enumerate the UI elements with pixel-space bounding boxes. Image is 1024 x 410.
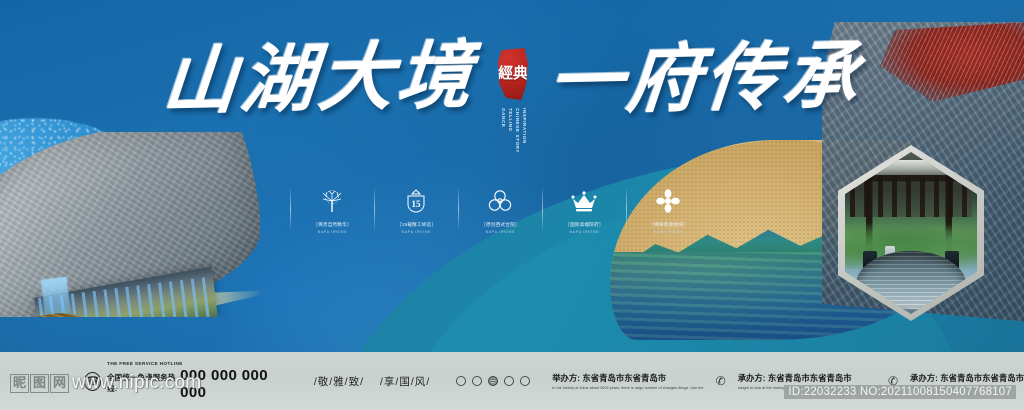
- feature-label-en: NAPA IRVINE: [318, 230, 348, 234]
- phone-separator-icon: ✆: [716, 374, 726, 388]
- image-id-tag: ID:22032233 NO:20211008150407768107: [784, 385, 1016, 399]
- tree-icon: [319, 186, 345, 216]
- organizer-name-cn: 承办方: 东省青岛市东省青岛市: [910, 372, 1024, 384]
- footer-bar: ☎ THE FREE SERVICE HOTLINE 全国统一免费服务热线: 0…: [0, 352, 1024, 410]
- feature-icon-row: ［稀贵自然精华］ NAPA IRVINE 15 ［15载精工缔造］ NAPA I…: [290, 186, 710, 234]
- feature-label-cn: ［国际高端院府］: [565, 222, 603, 228]
- circle-dot-2: [472, 376, 482, 386]
- screenshot-canvas: 山湖大境 經典 INSPIRATION CHINESE STORY TELLIN…: [0, 0, 1024, 410]
- crown-icon: [570, 186, 598, 216]
- feature-label-cn: ［15载精工缔造］: [397, 222, 436, 228]
- circle-dot-1: [456, 376, 466, 386]
- feature-item-2: 15 ［15载精工缔造］ NAPA IRVINE: [375, 186, 458, 234]
- feature-label-en: NAPA IRVINE: [654, 230, 684, 234]
- organizer-1: 举办方: 东省青岛市东省青岛市 In the history of china …: [552, 372, 703, 390]
- circle-dot-4: [504, 376, 514, 386]
- blossom-icon: [655, 186, 681, 216]
- hotline-block: THE FREE SERVICE HOTLINE 全国统一免费服务热线: 000…: [107, 362, 286, 401]
- feature-label-en: NAPA IRVINE: [570, 230, 600, 234]
- circle-dot-5: [520, 376, 530, 386]
- feature-item-4: ［国际高端院府］ NAPA IRVINE: [543, 186, 626, 234]
- hexagon-photo-frame: [838, 145, 984, 321]
- shield-15-icon: 15: [404, 186, 428, 216]
- slogan-2: /享/国/风/: [380, 374, 430, 389]
- slogan-group: /敬/雅/致/ /享/国/风/: [314, 374, 430, 389]
- feature-item-3: ［原创西式合院］ NAPA IRVINE: [459, 186, 542, 234]
- slogan-1: /敬/雅/致/: [314, 374, 364, 389]
- coin-dot-row: [456, 376, 530, 386]
- feature-label-cn: ［原创西式合院］: [481, 222, 519, 228]
- organizer-desc-en: In the history of china about 5000 years…: [552, 386, 703, 390]
- feature-item-5: ［稀缺资源地块］ NAPA IRVINE: [627, 186, 710, 234]
- organizer-name-cn: 举办方: 东省青岛市东省青岛市: [552, 372, 703, 384]
- feature-label-en: NAPA IRVINE: [486, 230, 516, 234]
- hotline-label-cn: 全国统一免费服务热线:: [107, 372, 177, 394]
- phone-icon: ☎: [84, 372, 101, 391]
- feature-label-cn: ［稀贵自然精华］: [313, 222, 351, 228]
- feature-label-en: NAPA IRVINE: [402, 230, 432, 234]
- hotline-number: 000 000 000 000: [180, 367, 286, 401]
- organizer-name-cn: 承办方: 东省青岛市东省青岛市: [738, 372, 876, 384]
- left-landscape-collage: [0, 132, 260, 317]
- feature-label-cn: ［稀缺资源地块］: [649, 222, 687, 228]
- trefoil-icon: [487, 186, 513, 216]
- feature-item-1: ［稀贵自然精华］ NAPA IRVINE: [291, 186, 374, 234]
- banner-artwork: 山湖大境 經典 INSPIRATION CHINESE STORY TELLIN…: [0, 0, 1024, 352]
- coin-icon: [488, 376, 498, 386]
- svg-text:15: 15: [412, 199, 422, 209]
